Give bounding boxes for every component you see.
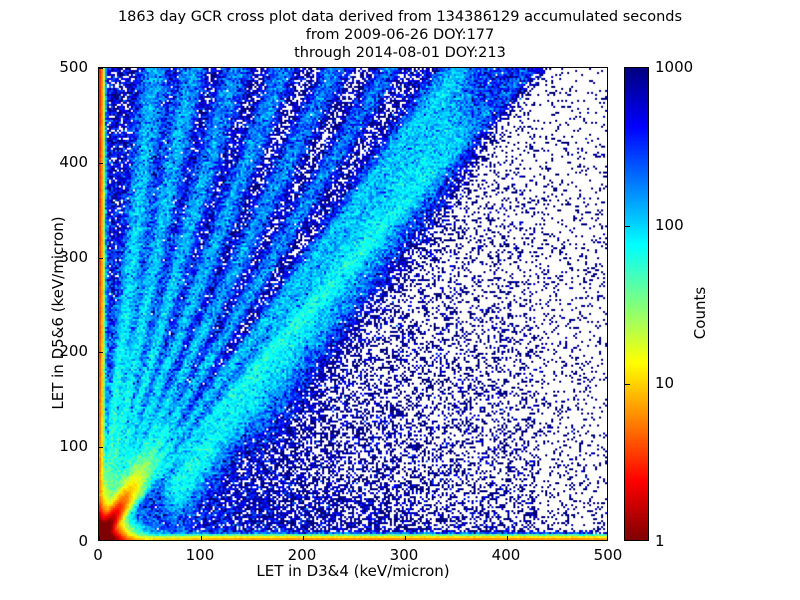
colorbar-tick-mark [625,384,630,385]
x-tick-mark [201,536,202,540]
colorbar-tick-mark [625,226,630,227]
colorbar-label: Counts [691,243,709,383]
colorbar-gradient [625,68,648,540]
x-tick-mark [507,536,508,540]
colorbar-tick-label-1000: 1000 [655,58,693,76]
y-tick-label-400: 400 [30,153,88,171]
x-axis-label: LET in D3&4 (keV/micron) [98,562,608,580]
colorbar[interactable] [624,67,649,541]
y-tick-mark [99,68,103,69]
chart-title-line-2: from 2009-06-26 DOY:177 [0,26,800,44]
x-tick-mark [405,536,406,540]
y-tick-mark [99,352,103,353]
figure-canvas: 1863 day GCR cross plot data derived fro… [0,0,800,600]
y-tick-label-100: 100 [30,437,88,455]
plot-area[interactable] [98,67,608,541]
x-tick-mark [303,536,304,540]
y-tick-label-500: 500 [30,58,88,76]
y-tick-mark [99,258,103,259]
y-tick-mark [99,163,103,164]
heatmap-data-layer [99,68,607,540]
colorbar-tick-label-10: 10 [655,374,674,392]
colorbar-tick-label-100: 100 [655,216,684,234]
y-axis-label: LET in D5&6 (keV/micron) [49,193,67,433]
y-tick-mark [99,447,103,448]
x-tick-mark [99,536,100,540]
chart-title-line-1: 1863 day GCR cross plot data derived fro… [0,8,800,26]
colorbar-tick-label-1: 1 [655,532,665,550]
y-tick-label-0: 0 [30,532,88,550]
chart-title: 1863 day GCR cross plot data derived fro… [0,8,800,62]
